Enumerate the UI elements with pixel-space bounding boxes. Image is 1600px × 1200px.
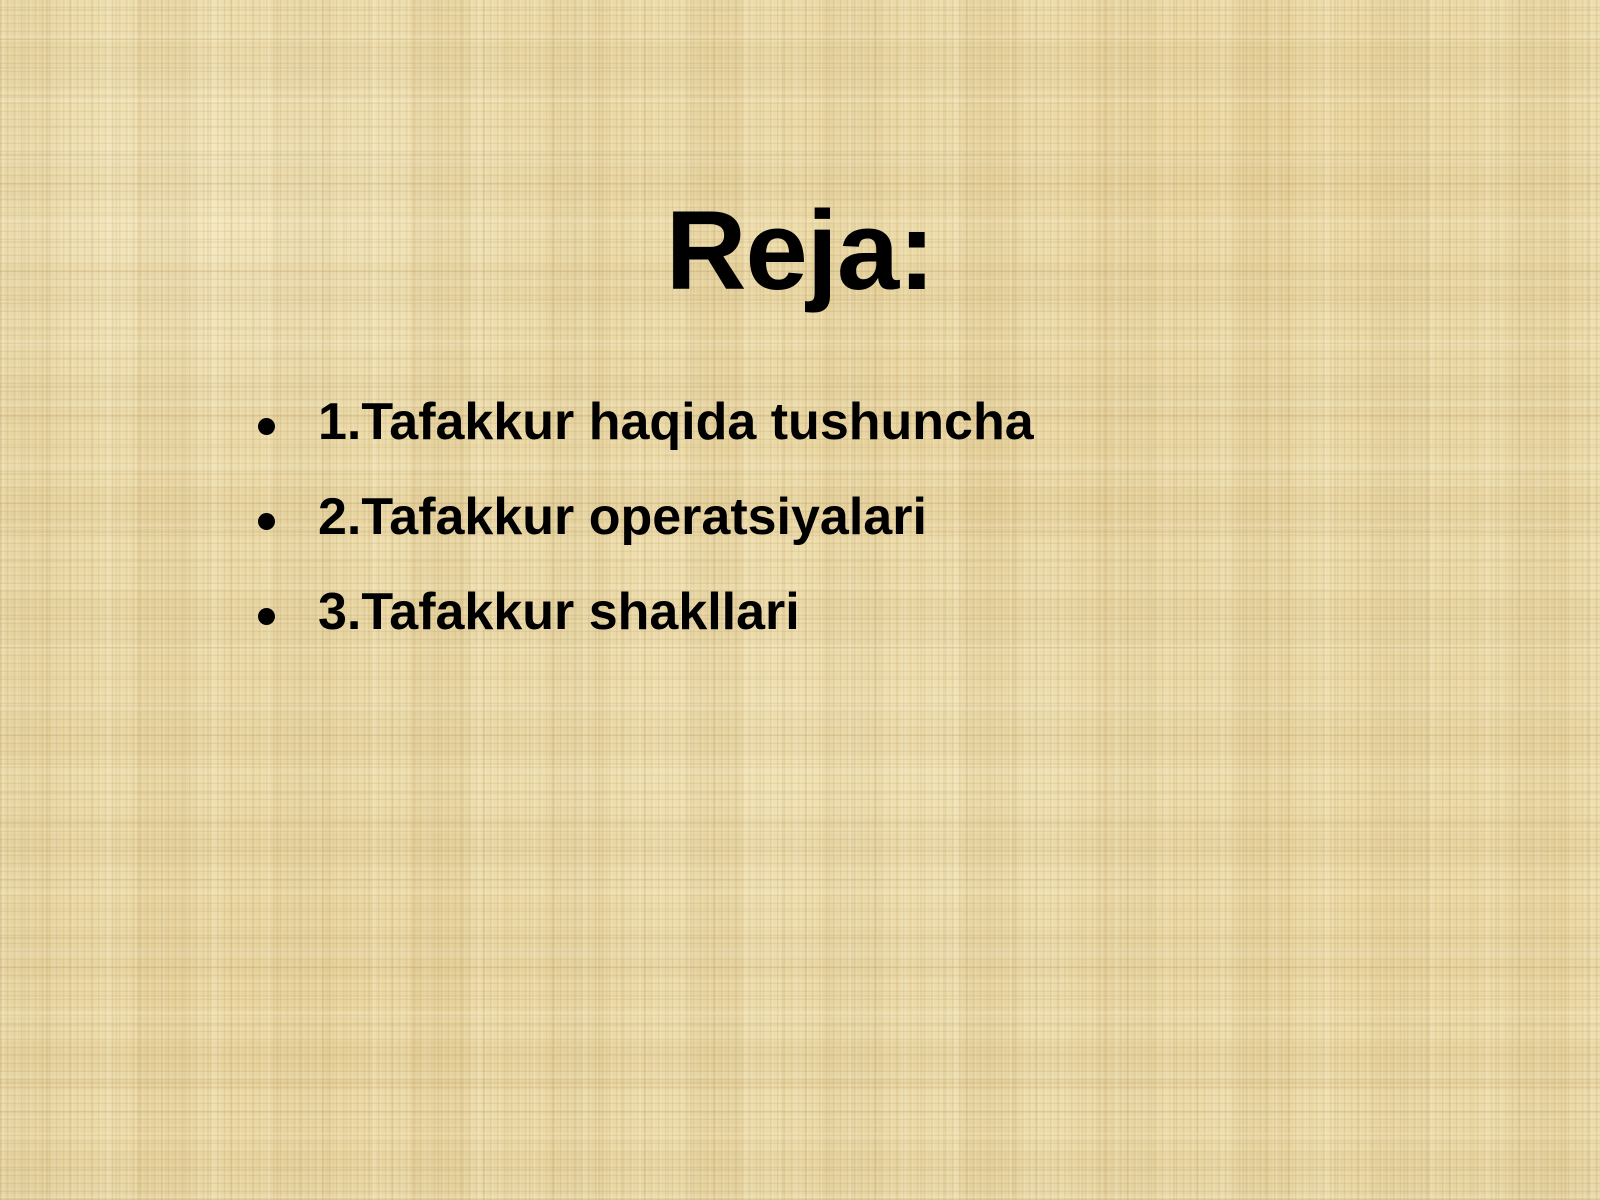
bullet-dot-icon <box>258 418 275 435</box>
slide-title: Reja: <box>0 192 1600 310</box>
bullet-dot-icon <box>258 608 275 625</box>
presentation-slide: Reja: 1.Tafakkur haqida tushuncha 2.Tafa… <box>0 0 1600 1200</box>
list-item: 3.Tafakkur shakllari <box>258 586 1358 681</box>
list-item: 2.Tafakkur operatsiyalari <box>258 491 1358 586</box>
list-item-label: 3.Tafakkur shakllari <box>318 586 1358 639</box>
list-item-label: 1.Tafakkur haqida tushuncha <box>318 396 1358 449</box>
list-item: 1.Tafakkur haqida tushuncha <box>258 396 1358 491</box>
list-item-label: 2.Tafakkur operatsiyalari <box>318 491 1358 544</box>
bullet-list: 1.Tafakkur haqida tushuncha 2.Tafakkur o… <box>258 396 1358 681</box>
bullet-dot-icon <box>258 513 275 530</box>
slide-content: Reja: 1.Tafakkur haqida tushuncha 2.Tafa… <box>0 0 1600 1200</box>
